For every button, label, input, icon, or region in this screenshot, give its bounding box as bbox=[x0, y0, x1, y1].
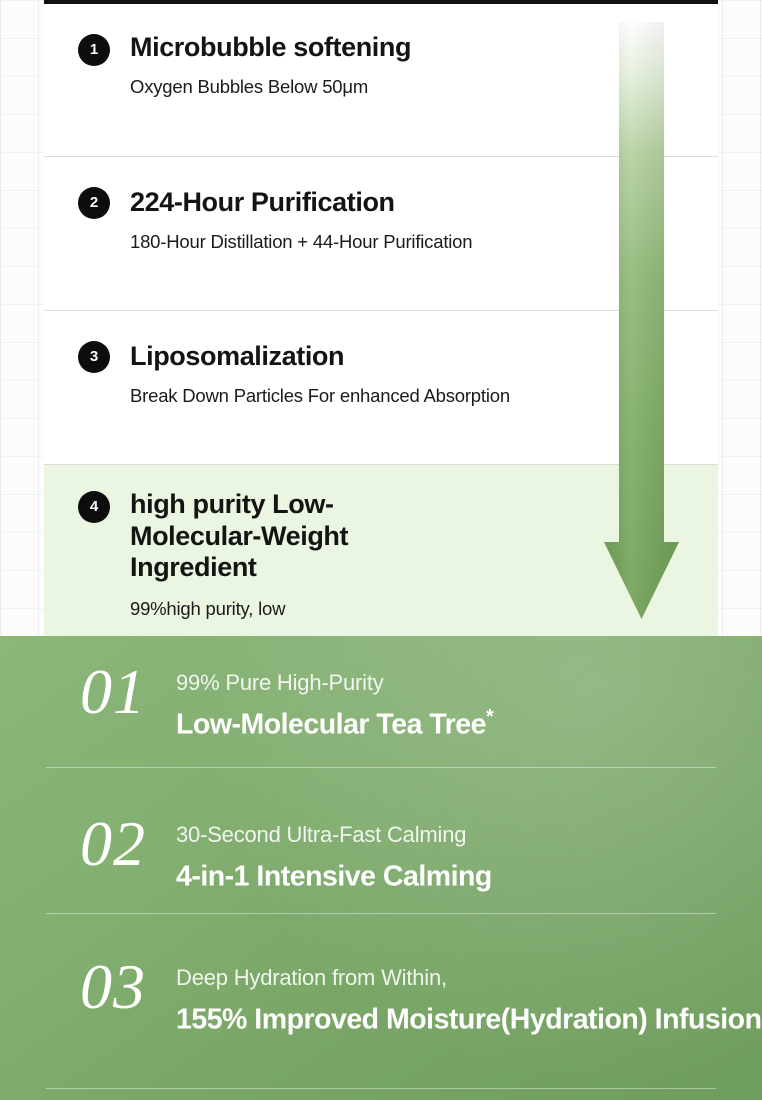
feature-title-text: 155% Improved Moisture(Hydration) Infusi… bbox=[176, 1003, 762, 1035]
feature-divider bbox=[46, 913, 716, 914]
step-number-badge: 1 bbox=[78, 34, 110, 66]
step-number-badge: 3 bbox=[78, 341, 110, 373]
feature-item: 01 99% Pure High-Purity Low-Molecular Te… bbox=[0, 636, 762, 786]
step-number-badge: 4 bbox=[78, 491, 110, 523]
process-step-row: 2 224-Hour Purification 180-Hour Distill… bbox=[44, 157, 718, 311]
process-step-row: 3 Liposomalization Break Down Particles … bbox=[44, 311, 718, 465]
feature-item: 02 30-Second Ultra-Fast Calming 4-in-1 I… bbox=[0, 786, 762, 931]
step-number-badge: 2 bbox=[78, 187, 110, 219]
step-subtitle: Oxygen Bubbles Below 50μm bbox=[130, 75, 598, 99]
process-step-row-highlighted: 4 high purity Low-Molecular-Weight Ingre… bbox=[44, 465, 718, 640]
step-title: Microbubble softening bbox=[130, 32, 598, 64]
feature-divider bbox=[46, 767, 716, 768]
feature-title-text: Low-Molecular Tea Tree bbox=[176, 708, 486, 740]
step-title: high purity Low-Molecular-Weight Ingredi… bbox=[130, 489, 598, 584]
feature-title: 155% Improved Moisture(Hydration) Infusi… bbox=[176, 1000, 762, 1037]
feature-asterisk: * bbox=[486, 706, 493, 728]
feature-title-text: 4-in-1 Intensive Calming bbox=[176, 860, 492, 892]
feature-subtitle: Deep Hydration from Within, bbox=[176, 964, 762, 992]
promo-page: 1 Microbubble softening Oxygen Bubbles B… bbox=[0, 0, 762, 1100]
feature-subtitle: 99% Pure High-Purity bbox=[176, 669, 493, 697]
feature-index: 01 bbox=[46, 662, 176, 723]
step-subtitle: Break Down Particles For enhanced Absorp… bbox=[130, 384, 598, 408]
process-steps-card: 1 Microbubble softening Oxygen Bubbles B… bbox=[44, 0, 718, 640]
feature-title: Low-Molecular Tea Tree* bbox=[176, 705, 493, 742]
feature-subtitle: 30-Second Ultra-Fast Calming bbox=[176, 821, 492, 849]
process-step-row: 1 Microbubble softening Oxygen Bubbles B… bbox=[44, 4, 718, 157]
feature-item: 03 Deep Hydration from Within, 155% Impr… bbox=[0, 931, 762, 1100]
feature-title: 4-in-1 Intensive Calming bbox=[176, 857, 492, 894]
feature-divider bbox=[46, 1088, 716, 1089]
step-subtitle: 99%high purity, low bbox=[130, 597, 598, 621]
feature-index: 03 bbox=[46, 957, 176, 1018]
step-title: 224-Hour Purification bbox=[130, 187, 598, 219]
feature-index: 02 bbox=[46, 814, 176, 875]
step-title: Liposomalization bbox=[130, 341, 598, 373]
step-subtitle: 180-Hour Distillation + 44-Hour Purifica… bbox=[130, 230, 598, 254]
key-features-panel: 01 99% Pure High-Purity Low-Molecular Te… bbox=[0, 636, 762, 1100]
